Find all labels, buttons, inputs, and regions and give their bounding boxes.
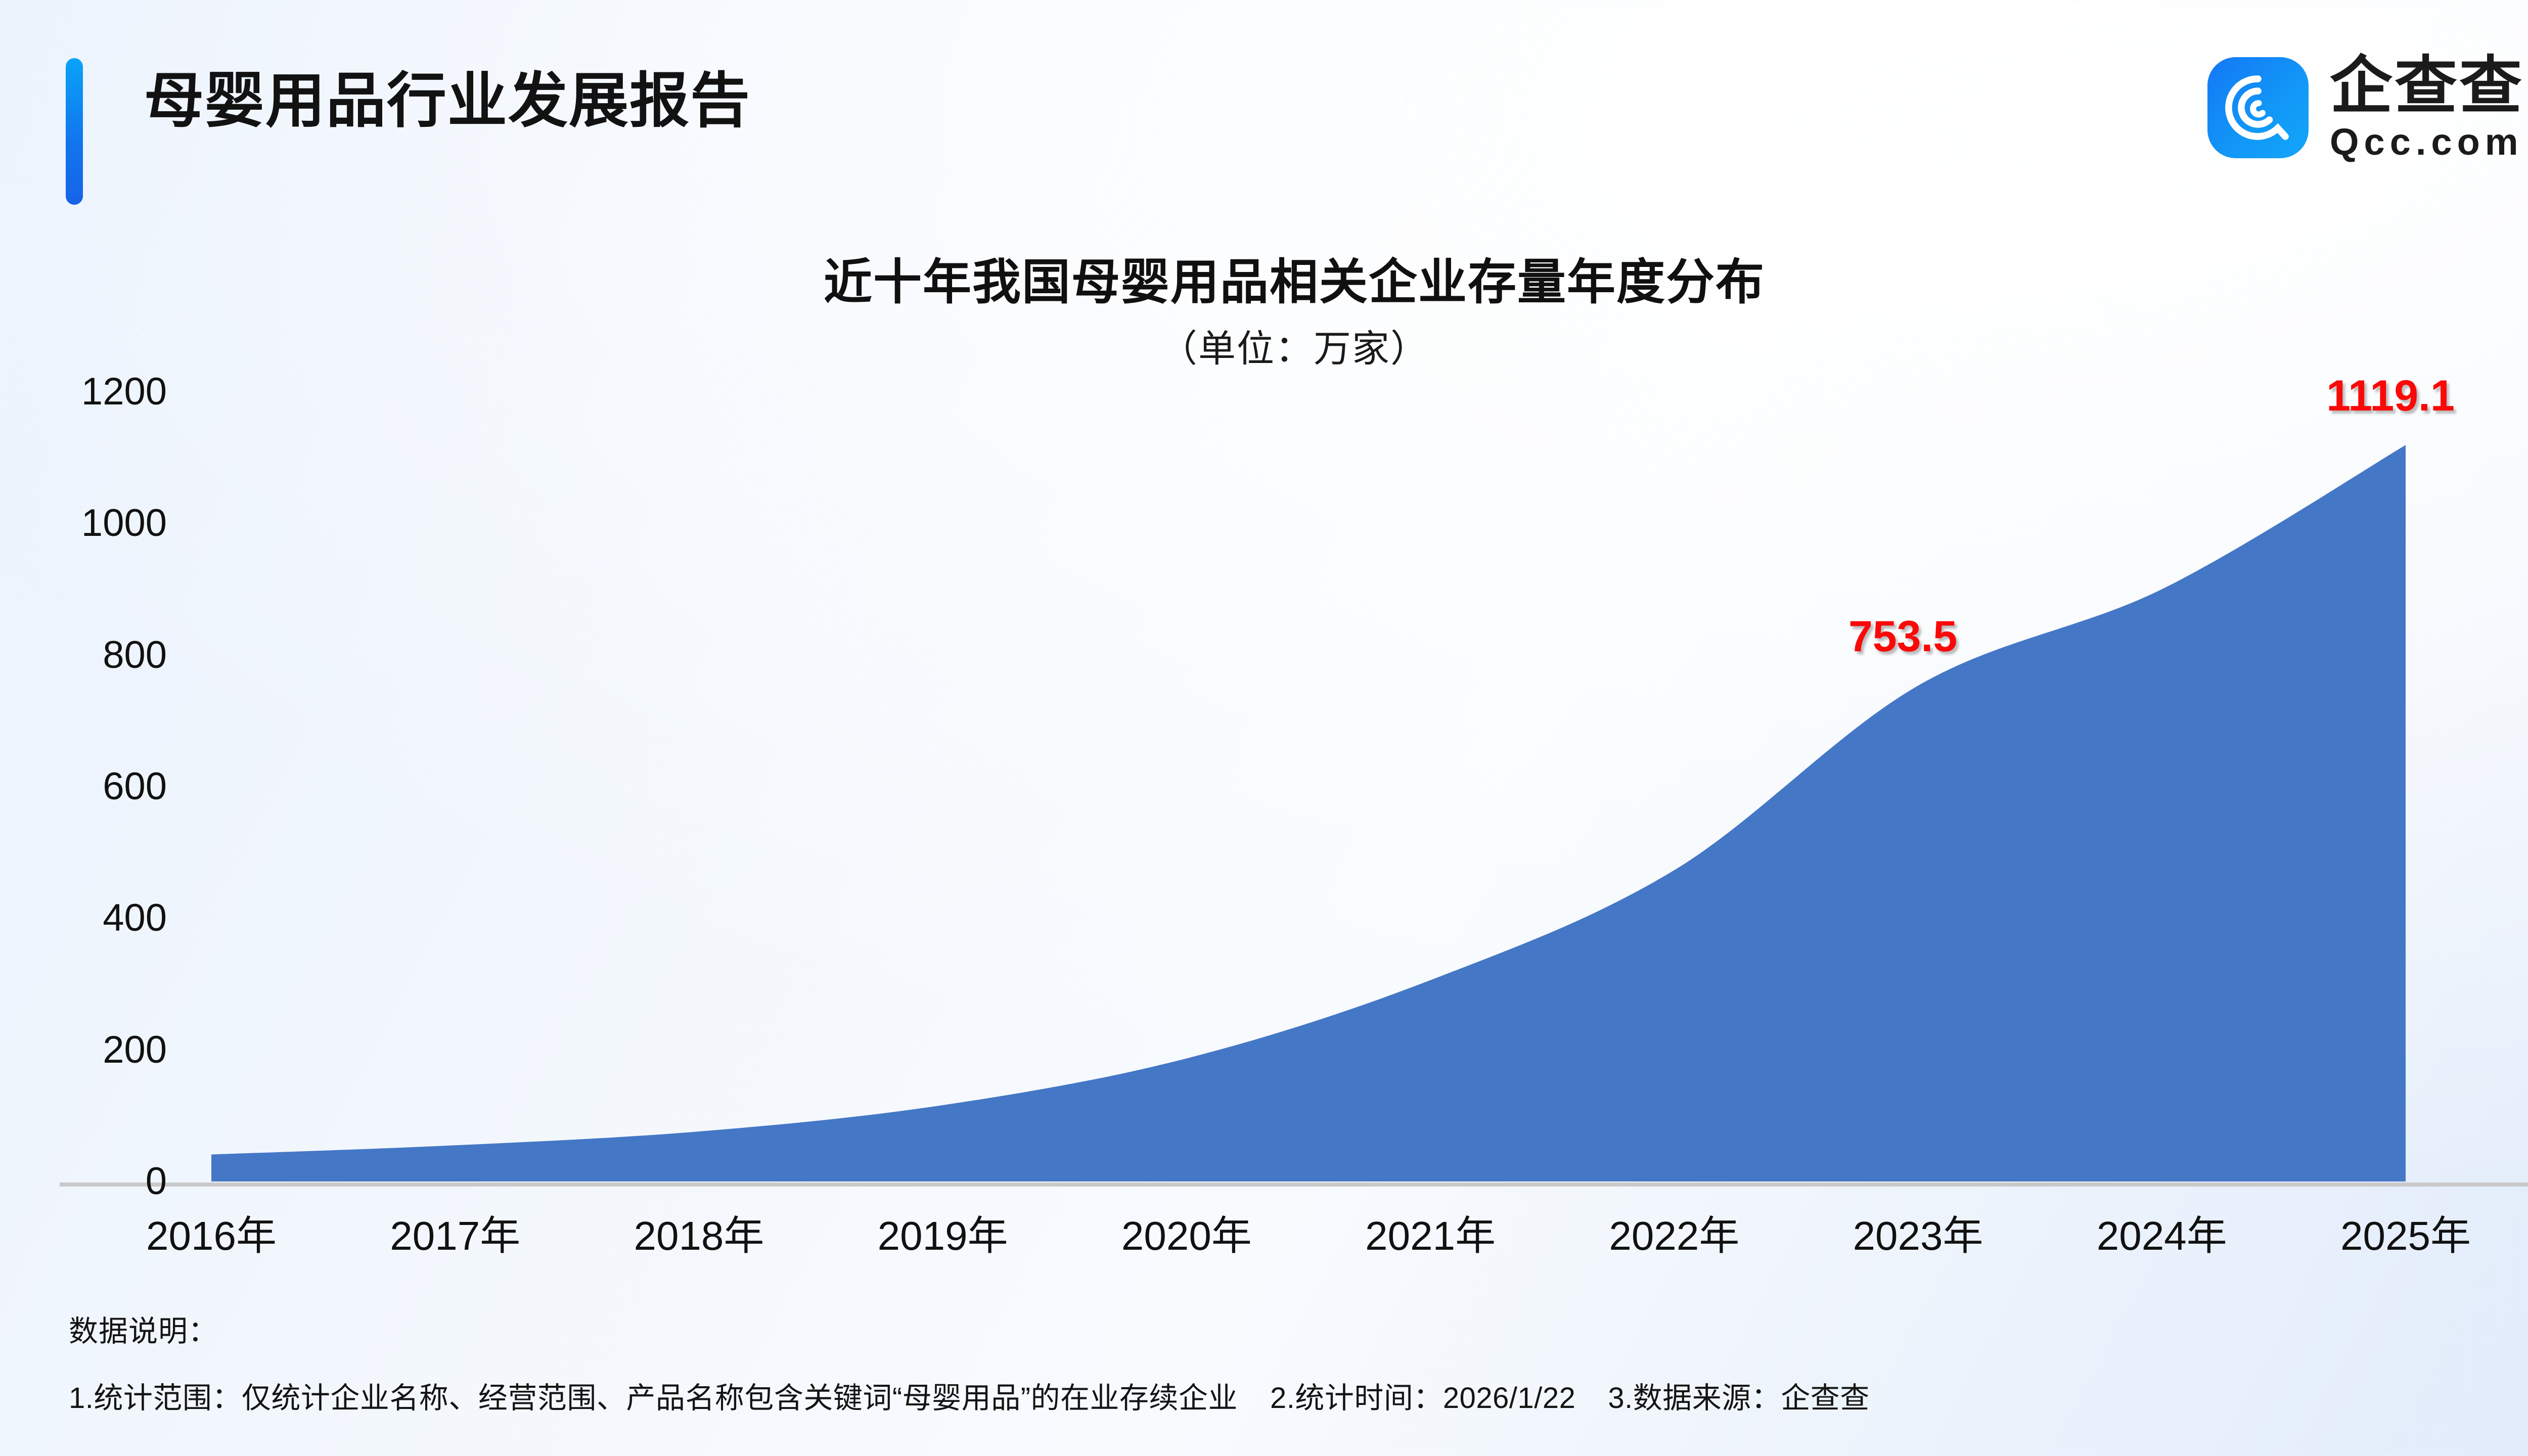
y-axis-tick: 1000: [0, 504, 167, 542]
x-axis-tick: 2021年: [1365, 1216, 1496, 1256]
page-header: 母婴用品行业发展报告 企查查 Qcc.com: [0, 0, 2528, 202]
chart-subtitle: （单位：万家）: [0, 318, 2528, 373]
footer-note: 1.统计范围：仅统计企业名称、经营范围、产品名称包含关键词“母婴用品”的在业存续…: [69, 1374, 1870, 1417]
footer-note-time: 2.统计时间：2026/1/22: [1270, 1382, 1575, 1415]
brand-name-cn: 企查查: [2330, 55, 2524, 117]
y-axis-tick: 400: [0, 899, 167, 937]
y-axis-tick: 0: [0, 1162, 167, 1201]
brand-text: 企查查 Qcc.com: [2330, 55, 2524, 161]
footer-heading: 数据说明：: [69, 1307, 218, 1350]
area-series-path: [211, 445, 2406, 1181]
x-axis-tick: 2018年: [634, 1216, 764, 1256]
chart-title: 近十年我国母婴用品相关企业存量年度分布: [0, 243, 2528, 313]
y-axis-tick: 200: [0, 1031, 167, 1069]
report-page: 母婴用品行业发展报告 企查查 Qcc.com 近十年我国母婴用品相关企业存量年度…: [0, 0, 2528, 1456]
qcc-logo-icon: [2207, 57, 2309, 158]
data-label: 753.5: [1848, 615, 1957, 658]
x-axis-tick: 2022年: [1609, 1216, 1739, 1256]
brand-logo: 企查查 Qcc.com: [2207, 55, 2524, 161]
title-accent-bar: [66, 58, 83, 205]
brand-name-en: Qcc.com: [2330, 123, 2524, 161]
data-label: 1119.1: [2326, 374, 2455, 418]
x-axis-tick: 2023年: [1853, 1216, 1983, 1256]
x-axis-tick: 2016年: [146, 1216, 277, 1256]
x-axis-tick: 2025年: [2340, 1216, 2471, 1256]
footer-note-source: 3.数据来源：企查查: [1608, 1382, 1869, 1415]
y-axis-tick: 800: [0, 636, 167, 674]
page-title: 母婴用品行业发展报告: [144, 66, 751, 138]
x-axis-tick: 2017年: [390, 1216, 520, 1256]
x-axis-tick: 2019年: [878, 1216, 1008, 1256]
x-axis-tick: 2020年: [1121, 1216, 1252, 1256]
x-axis-tick: 2024年: [2097, 1216, 2227, 1256]
y-axis-tick: 1200: [0, 373, 167, 411]
footer-note-scope: 1.统计范围：仅统计企业名称、经营范围、产品名称包含关键词“母婴用品”的在业存续…: [69, 1382, 1238, 1415]
y-axis-tick: 600: [0, 767, 167, 806]
